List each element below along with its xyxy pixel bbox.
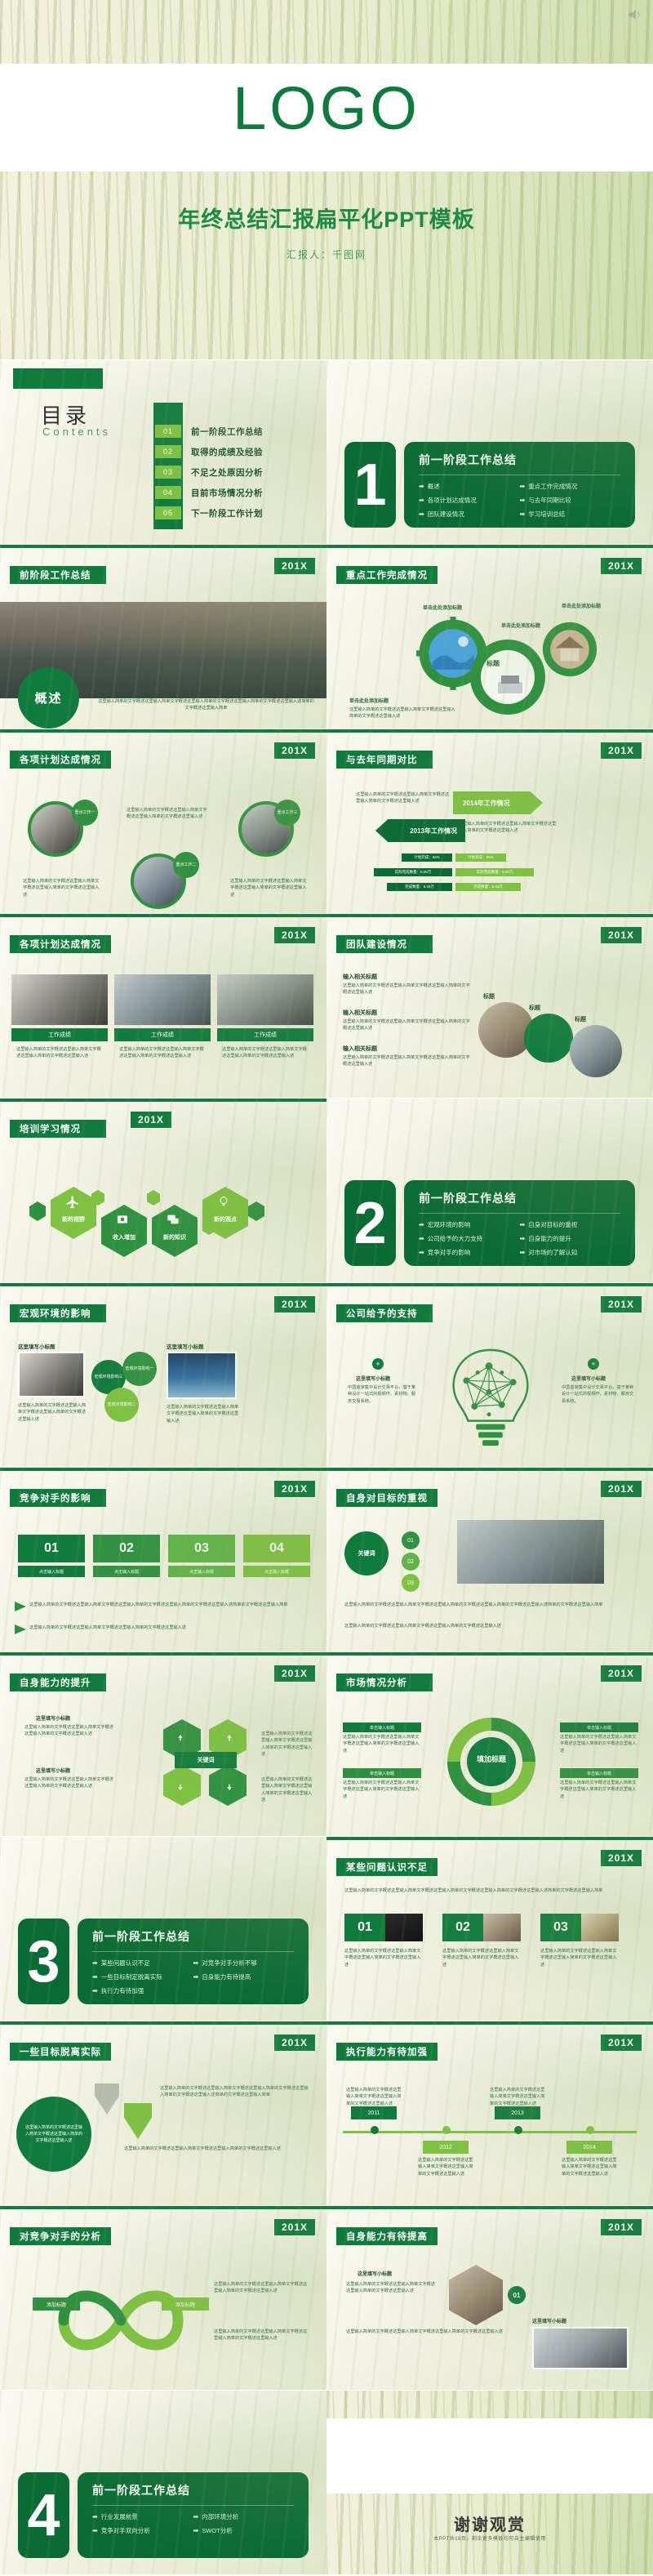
slide-execution: 执行能力有待加强 201X 2011 这里输入简单的文字概述这里输入简单文字概述… [326,2021,653,2205]
thumb-photo [532,2327,629,2369]
gear-icon [467,636,549,718]
body-text: 这里输入简单的文字概述这里输入简单文字概述这里输入简单的文字概述这里输入述 [222,1046,309,1060]
slide-header: 前阶段工作总结 [10,566,106,584]
photo-label: 标题 [575,1015,586,1023]
section-number: 4 [18,2472,69,2558]
body-text: 这里输入简单的文字概述这里输入简单文字概述这里输入简单的文字概述这里输入述 [167,1404,240,1424]
market-label: 单击输入标题 [560,1723,638,1732]
section-bullet: ➡公司给予的大力支持 [419,1234,520,1243]
body-text: 这里输入简单的文字概述这里输入简单文字概述这里输入简单的文字概述这里输入述 [346,2281,438,2295]
photo-label: 标题 [483,992,495,1001]
section-card: 前一阶段工作总结 ➡概述 ➡重点工作完成情况 ➡各项计划达成情况 ➡与去年同期比… [404,442,635,528]
body-text: 这里输入简单的文字概述这里输入简单文字概述这里输入简单的文字概述这里输入述 [560,1780,638,1800]
sub-title: 这里填写小标题 [167,1342,204,1350]
slide-header: 自身能力有待提高 [336,2227,438,2245]
body-text: 这里输入简单的文字概述这里输入简单文字概述这里输入简单的文字概述这里输入述 [562,2157,619,2177]
step-dot: 02 [402,1553,420,1571]
stat-bar: 计划完成：56% [455,853,506,862]
contents-number: 04 [155,486,181,499]
body-text: 这里输入简单的文字概述这里输入简单文字概述这里输入简单的文字概述这里输入简单的文… [344,1602,635,1608]
year-badge: 201X [601,2035,642,2051]
year-badge: 201X [601,1850,642,1866]
body-text: 这里输入简单的文字概述这里输入简单文字概述这里输入简单的文字概述这里输入述 [459,821,557,835]
contents-label: 取得的成绩及经验 [191,446,263,458]
year-badge: 201X [274,1296,315,1313]
bubble-label: 宏观环境影响二 [104,1388,139,1422]
pin-shape [95,2084,119,2115]
circle-label: 重点工作三 [274,800,300,826]
body-text: 这里输入简单的文字概述这里输入简单文字概述这里输入简单的文字概述这里输入述 [346,2087,403,2107]
body-text: 这里输入简单的文字概述这里输入简单文字概述这里输入简单的文字概述这里输入述 [214,2329,309,2342]
body-text: 这里输入简单的文字概述这里输入简单文字概述这里输入简单的文字概述这里输入述 [560,1734,638,1754]
section-bullet: ➡重点工作完成情况 [520,482,621,491]
slide-header: 宏观环境的影响 [10,1304,106,1322]
section-bullet: ➡竞争对手的影响 [419,1248,520,1257]
section-bullet: ➡学习培训总结 [520,510,621,519]
slide-row-1: 目录 Contents 01 前一阶段工作总结 02 取得的成绩及经验 03 不… [0,360,653,544]
slide-row-10: 一些目标脱离实际 201X 这里输入简单的文字概述这里输入简单文字概述这里输入简… [0,2021,653,2205]
year-badge: 201X [601,558,642,574]
timeline-dot [442,2126,451,2134]
gear-label: 单击此处添加标题 [562,604,601,612]
body-text: 中国首家集中设计交易平台，基于某种设计一站式的视频作、素材物，服务交易系统。 [562,1384,637,1405]
slide-self-up: 自身能力有待提高 201X 01 这里填写小标题 这里输入简单的文字概述这里输入… [326,2206,653,2390]
body-text: 这里输入简单的文字概述这里输入简单文字概述这里输入简单的文字概述这里输入述 [490,2087,547,2107]
slide-header: 对竞争对手的分析 [10,2227,111,2245]
timeline-year: 2012 [423,2141,469,2154]
arrow-icon: ➡ [419,510,424,518]
body-text: 这里输入简单的文字概述这里输入简单文字概述这里输入简单的文字概述这里输入简单的文… [344,1887,635,1894]
year-badge: 201X [601,2219,642,2235]
slide-rival: 竞争对手的影响 201X 01 02 03 04 点击输入标题 点击输入标题 点… [0,1468,326,1651]
slide-plan-done: 各项计划达成情况 201X 重点工作一 这里输入简单的文字概述这里输入简单文字概… [0,729,326,913]
loop-label: 添加标题 [33,2297,80,2311]
section-card: 前一阶段工作总结 ➡宏观环境的影响 ➡自身对目标的重视 ➡公司给予的大力支持 ➡… [404,1180,635,1266]
overview-badge: 概述 [18,667,79,729]
slide-macro: 宏观环境的影响 201X 这里填写小标题 这里输入简单的文字概述这里输入简单文字… [0,1283,326,1467]
title-bottom-band: 年终总结汇报扁平化PPT模板 汇报人：千图网 [0,172,653,359]
body-text: 这里输入简单的文字概述这里输入简单文字概述这里输入简单的文字概述这里输入简单的文… [98,698,314,712]
contents-heading-en: Contents [42,426,111,438]
step-number: 02 [442,1914,483,1941]
circle-photo [570,1025,622,1077]
sub-title: 这里填写小标题 [36,1767,70,1774]
slide-goal-focus: 自身对目标的重视 201X 关键词 01 02 03 这里输入简单的文字概述这里… [326,1468,653,1651]
step-dot: 03 [402,1574,420,1592]
slide-awareness: 某些问题认识不足 201X 这里输入简单的文字概述这里输入简单文字概述这里输入简… [326,1837,653,2021]
step-number: 03 [168,1535,235,1562]
section-title: 前一阶段工作总结 [419,1190,620,1206]
thumb-photo [167,1352,237,1399]
top-accent-bar [0,1468,326,1471]
slide-header: 公司给予的支持 [336,1304,433,1322]
slide-plan-done-2: 各项计划达成情况 201X 工作成绩 工作成绩 工作成绩 这里输入简单的文字概述… [0,914,326,1098]
sub-title: 这里填写小标题 [532,2317,566,2324]
arrow-icon: ➡ [92,1959,98,1967]
section-bullet: ➡SWOT分析 [193,2526,295,2535]
body-text: 这里输入简单的文字概述这里输入简单文字概述这里输入简单的文字概述这里输入述 [124,2146,309,2152]
market-label: 单击输入标题 [560,1768,638,1778]
sub-title: 输入相关标题 [343,1009,377,1017]
list-item[interactable]: 05 下一阶段工作计划 [155,506,263,520]
year-badge: 201X [601,927,642,943]
arrow-icon: ➡ [193,2527,199,2534]
slide-header: 与去年同期对比 [336,751,433,769]
section-bullet: ➡各项计划达成情况 [419,496,520,505]
title-top-band [0,0,653,64]
slide-header: 执行能力有待加强 [336,2043,438,2061]
hex-tile [209,1765,247,1806]
slide-header: 自身能力的提升 [10,1674,106,1691]
thanks-title: 谢谢观赏 [326,2511,653,2535]
body-text: 这里输入简单的文字概述这里输入简单文字概述这里输入简单的文字概述这里输入述 [230,878,308,898]
timeline-year: 2014 [566,2141,612,2154]
photo-label: 标题 [529,1004,540,1012]
step-dot: 01 [508,2286,526,2304]
infinity-loop-icon [47,2271,194,2369]
arrow-icon: ➡ [520,497,526,504]
step-tag: 点击输入标题 [18,1566,85,1577]
body-text: 这里输入简单的文字概述这里输入简单文字概述这里输入简单的文字概述这里输入述 [356,791,450,805]
slide-title: LOGO 年终总结汇报扁平化PPT模板 汇报人：千图网 [0,0,653,359]
arrow-icon: ➡ [419,1235,424,1242]
top-accent-bar [0,2206,326,2209]
slide-key-work: 重点工作完成情况 201X 单击此处添加标题 单击此处添加标题 单击此处添加标题 [326,545,653,729]
sync-icon [221,1779,234,1792]
stat-bar: 完成数量：6.40万 [455,883,521,891]
slide-header: 竞争对手的影响 [10,1489,106,1507]
refresh-icon [175,1779,189,1792]
card-title: 工作成绩 [11,1028,108,1041]
speaker-icon [627,8,645,21]
divider [92,1951,294,1952]
arrow-icon: ➡ [520,1221,526,1228]
timeline-dot [586,2126,594,2134]
contents-number: 01 [155,425,181,438]
body-text: 这里输入简单的文字概述这里输入简单文字概述这里输入简单的文字概述这里输入述 [343,1018,473,1032]
card-photo [217,974,313,1025]
body-text: 这里输入简单的文字概述这里输入简单文字概述这里输入简单的文字概述这里输入述 [119,1046,206,1060]
body-text: 这里输入简单的文字概述这里输入简单文字概述这里输入简单的文字概述这里输入述 [29,1624,309,1631]
sub-title: 输入相关标题 [343,1045,377,1053]
slide-goals-real: 一些目标脱离实际 201X 这里输入简单的文字概述这里输入简单文字概述这里输入简… [0,2021,326,2205]
body-text: 这里输入简单的文字概述这里输入简单文字概述这里输入简单的文字概述这里输入述 [214,2281,309,2295]
slide-training: 培训学习情况 201X 新的视野 收入增加 新的知识 新的观点 [0,1099,326,1282]
pin-shape [124,2103,152,2139]
arrow-icon: ➡ [193,1973,199,1981]
arrow-icon: ➡ [419,1249,424,1256]
year-badge: 201X [274,927,315,943]
sub-title: 这里填写小标题 [18,1342,56,1350]
divider [92,2505,294,2506]
hex-deco [29,1201,46,1221]
slide-row-11: 对竞争对手的分析 201X 添加标题 添加标题 这里输入简单的文字概述这里输入简… [0,2206,653,2390]
market-label: 单击输入标题 [343,1723,421,1732]
sub-title: 这里填写小标题 [358,2270,392,2277]
top-accent-bar [0,729,326,733]
step-tag: 点击输入标题 [243,1566,310,1577]
step-tag: 点击输入标题 [93,1566,160,1577]
idea-icon [217,1195,230,1208]
section-bullet: ➡内部环境分析 [193,2512,295,2521]
hex-photo [449,2265,503,2325]
slide-rival-analysis: 对竞争对手的分析 201X 添加标题 添加标题 这里输入简单的文字概述这里输入简… [0,2206,326,2390]
section-bullet: ➡某些问题认识不足 [92,1959,193,1968]
year-badge: 201X [131,1112,171,1128]
slide-row-6: 宏观环境的影响 201X 这里填写小标题 这里输入简单的文字概述这里输入简单文字… [0,1283,653,1467]
slide-header: 某些问题认识不足 [336,1858,438,1876]
body-text: 这里输入简单的文字概述这里输入简单文字概述这里输入简单的文字概述这里输入述 [343,1780,421,1800]
slide-row-3: 各项计划达成情况 201X 重点工作一 这里输入简单的文字概述这里输入简单文字概… [0,729,653,913]
body-text: 这里输入简单的文字概述这里输入简单文字概述这里输入简单的文字概述这里输入述 [349,706,455,720]
slide-ability: 自身能力的提升 201X 这里填写小标题 这里输入简单的文字概述这里输入简单文字… [0,1652,326,1836]
circle-label: 重点工作一 [72,800,98,826]
top-accent-bar [326,729,653,733]
section-card: 前一阶段工作总结 ➡某些问题认识不足 ➡对竞争对手分析不够 ➡一些目标制定脱离实… [78,1919,309,2004]
section-title: 前一阶段工作总结 [92,1928,294,1945]
slide-overview: 前阶段工作总结 201X 概述 这里输入简单的文字概述这里输入简单文字概述这里输… [0,545,326,729]
body-text: 这里输入简单的文字概述这里输入简单文字概述这里输入简单的文字概述这里输入述 [23,878,100,898]
contents-label: 目前市场情况分析 [191,487,263,499]
slide-header: 自身对目标的重视 [336,1489,438,1507]
thanks-note: 本PPT共16页，剩余更多模板均可自主编辑使用 [326,2534,653,2542]
slide-row-2: 前阶段工作总结 201X 概述 这里输入简单的文字概述这里输入简单文字概述这里输… [0,545,653,729]
body-text: 这里输入简单的文字概述这里输入简单文字概述这里输入简单的文字概述这里输入述 [261,1731,315,1758]
top-accent-bar [0,545,326,548]
body-text: 这里输入简单的文字概述这里输入简单文字概述这里输入简单的文字概述这里输入述 [442,1948,521,1968]
slide-row-4: 各项计划达成情况 201X 工作成绩 工作成绩 工作成绩 这里输入简单的文字概述… [0,914,653,1098]
contents-label: 前一阶段工作总结 [191,426,263,438]
step-photo [385,1914,423,1941]
slide-support: 公司给予的支持 201X + 这里填写小标题 中 [326,1283,653,1467]
section-bullet: ➡概述 [419,482,520,491]
body-text: 这里输入简单的文字概述这里输入简单文字概述这里输入简单的文字概述这里输入述 [343,1054,473,1068]
sub-title: 这里填写小标题 [36,1714,70,1722]
slide-header: 一些目标脱离实际 [10,2043,111,2061]
step-number: 03 [540,1914,581,1941]
body-text: 这里输入简单的文字概述这里输入简单文字概述这里输入简单的文字概述这里输入述 [261,1776,315,1803]
slide-header: 市场情况分析 [336,1674,433,1691]
circle-label: 重点工作二 [173,852,199,878]
section-bullet: ➡对竞争对手分析不够 [193,1959,295,1968]
section-title: 前一阶段工作总结 [92,2482,294,2498]
slide-header: 重点工作完成情况 [336,566,438,584]
section-bullet: ➡一些目标制定脱离实际 [92,1972,193,1981]
gear-icon [540,620,599,679]
chat-icon [167,1213,180,1226]
step-photo [483,1914,521,1941]
step-photo [581,1914,619,1941]
section-bullet: ➡自身能力有待提高 [193,1972,295,1981]
slide-row-7: 竞争对手的影响 201X 01 02 03 04 点击输入标题 点击输入标题 点… [0,1468,653,1651]
slide-team: 团队建设情况 201X 输入相关标题 这里输入简单的文字概述这里输入简单文字概述… [326,914,653,1098]
body-text: 这里输入简单的文字概述这里输入简单文字概述这里输入简单的文字概述这里输入述 [418,2157,475,2177]
body-text: 这里输入简单的文字概述这里输入简单文字概述这里输入简单的文字概述这里输入简单的文… [160,2085,312,2099]
stat-bar: 计划完成：56% [402,853,452,862]
sub-title: 这里填写小标题 [356,1375,390,1382]
thanks-white-band [326,2418,653,2494]
body-text: 这里输入简单的文字概述这里输入简单文字概述这里输入简单的文字概述这里输入述 [540,1948,619,1968]
arrow-icon: ➡ [92,1987,98,1994]
stat-bar: 实际完成数量：8,00万 [374,868,452,876]
section-bullet: ➡与去年同期比较 [520,496,621,505]
slide-header: 培训学习情况 [10,1120,106,1138]
timeline-year: 2013 [495,2106,540,2119]
section-bullet: ➡自身能力的提升 [520,1234,621,1243]
section-bullet: ➡行业发展前景 [92,2512,193,2521]
arrow-icon: ➡ [193,1959,199,1967]
arrow-icon: ➡ [419,1221,424,1228]
keyword-badge: 关键词 [344,1531,389,1575]
slide-row-12: 4 前一阶段工作总结 ➡行业发展前景 ➡内部环境分析 ➡竞争对手双向分析 ➡SW… [0,2391,653,2574]
section-bullet: ➡团队建设情况 [419,510,520,519]
top-accent-bar [0,2021,326,2025]
top-accent-bar [0,914,326,917]
body-text: 这里输入简单的文字概述这里输入简单文字概述这里输入简单的文字概述这里输入述 [344,1623,635,1629]
hex-deco [147,1190,160,1206]
body-text: 这里输入简单的文字概述这里输入简单文字概述这里输入简单的文字概述这里输入述 [346,2329,509,2335]
play-icon [15,1624,26,1634]
slide-section-4: 4 前一阶段工作总结 ➡行业发展前景 ➡内部环境分析 ➡竞争对手双向分析 ➡SW… [0,2391,326,2574]
year-badge: 201X [601,1665,642,1682]
list-item[interactable]: 03 不足之处原因分析 [155,465,263,479]
arrow-icon: ➡ [520,1249,526,1256]
stat-bar: 完成数量：6.40万 [387,883,452,891]
gear-label: 单击此处添加标题 [423,605,462,613]
gear-label: 单击此处添加标题 [349,698,389,706]
top-accent-bar [0,1099,326,1102]
year-badge: 201X [601,1481,642,1497]
bubble-label: 宏观环境影响一 [122,1352,157,1386]
top-accent-bar [326,2206,653,2209]
section-bullet: ➡竞争对手双向分析 [92,2526,193,2535]
year-badge: 201X [601,1296,642,1313]
year-badge: 201X [274,1481,315,1497]
divider [419,1213,620,1214]
card-photo [114,974,211,1025]
top-accent-bar [0,1283,326,1286]
contents-number: 02 [155,445,181,458]
body-text: 这里输入简单的文字概述这里输入简单文字概述这里输入简单的文字概述这里输入述 [344,1948,423,1968]
list-item[interactable]: 04 目前市场情况分析 [155,485,263,500]
section-card: 前一阶段工作总结 ➡行业发展前景 ➡内部环境分析 ➡竞争对手双向分析 ➡SWOT… [78,2472,309,2558]
arrow-icon: ➡ [92,2513,98,2520]
presentation-title: 年终总结汇报扁平化PPT模板 [0,202,653,234]
contents-label: 不足之处原因分析 [191,466,263,479]
ppt-preview-deck: LOGO 年终总结汇报扁平化PPT模板 汇报人：千图网 目录 Contents … [0,0,653,2574]
stat-bar: 实际完成数量：8,00万 [455,868,534,876]
list-item[interactable]: 01 前一阶段工作总结 [155,424,263,439]
year-badge: 201X [274,2035,315,2051]
hex-tile [163,1765,201,1806]
step-number: 04 [243,1535,310,1562]
arrow-icon: ➡ [193,2513,199,2520]
body-text: 这里输入简单的文字概述这里输入简单文字概述这里输入简单的文字概述这里输入述 [24,1724,116,1738]
top-accent-bar [326,914,653,917]
section-bullet: ➡宏观环境的影响 [419,1220,520,1229]
arrow-icon: ➡ [92,2527,98,2534]
arrow-icon: ➡ [520,483,526,490]
keyword-label: 关键词 [175,1752,237,1768]
card-title: 工作成绩 [217,1028,313,1041]
plus-icon: + [372,1358,384,1370]
card-photo [11,974,108,1025]
section-title: 前一阶段工作总结 [419,452,620,468]
play-icon [15,1602,26,1611]
step-number: 02 [93,1535,160,1562]
year-badge: 201X [274,742,315,759]
recycle-icon [175,1733,189,1746]
section-number: 2 [344,1180,396,1266]
top-accent-bar [0,1652,326,1656]
arrow-cycle-icon [221,1733,234,1746]
top-accent-bar [326,545,653,548]
year-badge: 201X [274,558,315,574]
slide-row-5: 培训学习情况 201X 新的视野 收入增加 新的知识 新的观点 [0,1099,653,1282]
bubble-big: 这里输入简单的文字概述这里输入简单文字概述这里输入简单的文字概述这里输入述 [16,2097,91,2172]
contents-number: 05 [155,506,181,519]
sub-title: 输入相关标题 [343,973,377,981]
timeline-year: 2011 [351,2106,397,2119]
arrow-icon: ➡ [520,510,526,518]
slide-thanks: 谢谢观赏 本PPT共16页，剩余更多模板均可自主编辑使用 [326,2391,653,2574]
section-bullet: ➡执行力有待加强 [92,1986,193,1995]
section-number: 1 [344,442,396,528]
slide-header: 各项计划达成情况 [10,935,111,953]
timeline-dot [514,2126,522,2134]
step-dot: 01 [402,1531,420,1549]
hex-deco [248,1201,264,1221]
list-item[interactable]: 02 取得的成绩及经验 [155,444,263,459]
body-text: 这里输入简单的文字概述这里输入简单文字概述这里输入简单的文字概述这里输入述 [343,1734,421,1754]
top-accent-bar [326,1283,653,1286]
slide-section-3: 3 前一阶段工作总结 ➡某些问题认识不足 ➡对竞争对手分析不够 ➡一些目标制定脱… [0,1837,326,2021]
sub-title: 这里填写小标题 [571,1375,606,1382]
slide-market: 市场情况分析 201X 填加标题 单击输入标题 这里输入简单的文字概述这里输入简… [326,1652,653,1836]
slide-section-1: 1 前一阶段工作总结 ➡概述 ➡重点工作完成情况 ➡各项计划达成情况 ➡与去年同… [326,360,653,544]
money-icon [116,1213,129,1226]
step-tag: 点击输入标题 [168,1566,235,1577]
contents-list: 01 前一阶段工作总结 02 取得的成绩及经验 03 不足之处原因分析 04 目… [155,424,263,526]
step-number: 01 [344,1914,385,1941]
slide-row-8: 自身能力的提升 201X 这里填写小标题 这里输入简单的文字概述这里输入简单文字… [0,1652,653,1836]
arrow-icon: ➡ [419,497,424,504]
section-bullet: ➡对市场的了解认知 [520,1248,621,1257]
step-number: 01 [18,1535,85,1562]
body-text: 这里输入简单的文字概述这里输入简单文字概述这里输入简单的文字概述这里输入述 [127,807,208,821]
market-label: 单击输入标题 [343,1768,421,1778]
body-text: 这里输入简单的文字概述这里输入简单文字概述这里输入简单的文字概述这里输入简单的文… [29,1602,309,1608]
contents-number: 03 [155,466,181,479]
slide-header: 各项计划达成情况 [10,751,111,769]
presenter-line: 汇报人：千图网 [0,247,653,261]
team-photo [457,1520,604,1584]
top-accent-bar [326,1837,653,1840]
plus-icon: + [588,1358,599,1370]
body-text: 这里输入简单的文字概述这里输入简单文字概述这里输入简单的文字概述这里输入述 [24,1776,116,1790]
year-badge: 201X [274,2219,315,2235]
gear-label: 单击此处添加标题 [501,623,540,631]
slide-header: 团队建设情况 [336,935,433,953]
top-accent-bar [326,1468,653,1471]
body-text: 这里输入简单的文字概述这里输入简单文字概述这里输入简单的文字概述这里输入述 [16,1046,103,1060]
card-title: 工作成绩 [114,1028,211,1041]
timeline-dot [371,2126,379,2134]
arrow-bar-new: 2014年工作情况 [453,791,543,814]
slide-section-2: 2 前一阶段工作总结 ➡宏观环境的影响 ➡自身对目标的重视 ➡公司给予的大力支持… [326,1099,653,1282]
top-accent-bar [326,1652,653,1656]
plane-icon [65,1195,80,1210]
